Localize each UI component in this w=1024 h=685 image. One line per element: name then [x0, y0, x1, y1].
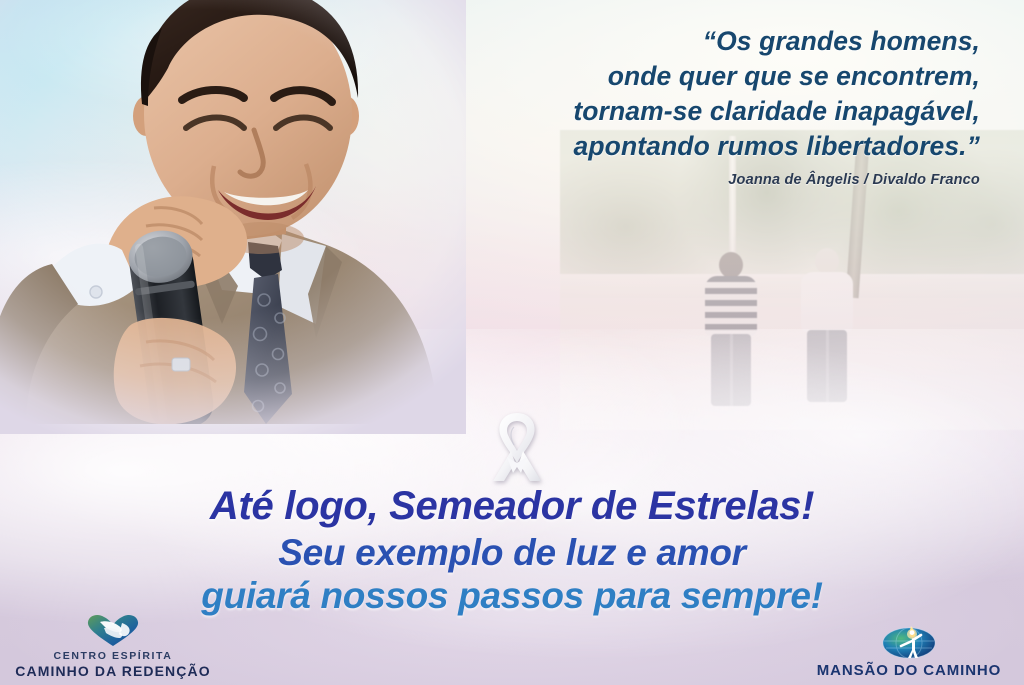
logo-right-line-1: MANSÃO DO CAMINHO [804, 662, 1014, 679]
figure-head [719, 252, 743, 278]
quote-text: “Os grandes homens, onde quer que se enc… [420, 24, 980, 164]
figure-head [815, 248, 839, 274]
quote-line-4: apontando rumos libertadores.” [420, 129, 980, 164]
logo-mansao-do-caminho: MANSÃO DO CAMINHO [804, 622, 1014, 679]
logo-centro-espirita: CENTRO ESPÍRITA CAMINHO DA REDENÇÃO [8, 612, 218, 679]
logo-left-line-2: CAMINHO DA REDENÇÃO [8, 663, 218, 679]
heart-hands-icon [8, 612, 218, 648]
quote-line-3: tornam-se claridade inapagável, [420, 94, 980, 129]
headline-block: Até logo, Semeador de Estrelas! Seu exem… [0, 486, 1024, 614]
figure-torso [705, 276, 757, 336]
memorial-poster: “Os grandes homens, onde quer que se enc… [0, 0, 1024, 685]
ring [172, 358, 190, 371]
figure-torso [801, 272, 853, 332]
quote-line-1: “Os grandes homens, [420, 24, 980, 59]
quote-line-2: onde quer que se encontrem, [420, 59, 980, 94]
globe-figure-flame-icon [804, 622, 1014, 658]
headline-line-2: Seu exemplo de luz e amor [0, 534, 1024, 571]
quote-attribution: Joanna de Ângelis / Divaldo Franco [420, 172, 980, 188]
cuff-button [90, 286, 102, 298]
headline-line-3: guiará nossos passos para sempre! [0, 577, 1024, 614]
logo-left-line-1: CENTRO ESPÍRITA [8, 650, 218, 662]
portrait-photo [0, 0, 456, 424]
headline-line-1: Até logo, Semeador de Estrelas! [0, 486, 1024, 526]
white-ribbon-icon [487, 407, 547, 485]
